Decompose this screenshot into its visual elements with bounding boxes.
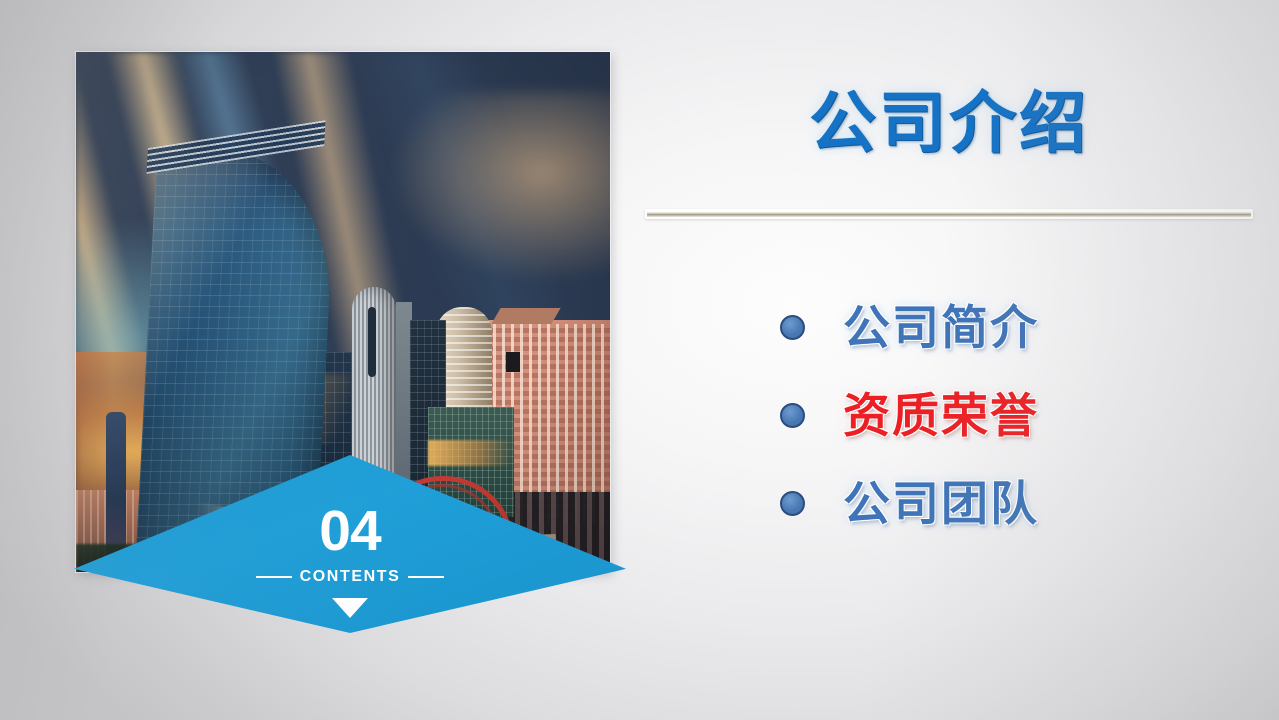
cityscape-photo	[76, 52, 610, 572]
bullet-dot-icon	[780, 315, 805, 340]
bullet-dot-icon	[780, 403, 805, 428]
presentation-slide: 04 CONTENTS 公司介绍 公司简介 资质荣誉 公司团队	[0, 0, 1279, 720]
badge-rule-left	[256, 576, 292, 578]
bullet-dot-icon	[780, 491, 805, 516]
agenda-item-label: 资质荣誉	[843, 392, 1039, 439]
title-divider-bar	[647, 212, 1251, 217]
photo-vignette	[76, 52, 610, 572]
badge-rule-right	[408, 576, 444, 578]
agenda-item-company-profile[interactable]: 公司简介	[780, 283, 1250, 371]
agenda-item-label: 公司团队	[843, 480, 1039, 527]
page-title: 公司介绍	[645, 86, 1253, 161]
agenda-item-company-team[interactable]: 公司团队	[780, 459, 1250, 547]
title-divider	[645, 209, 1253, 219]
triangle-down-icon	[332, 598, 368, 618]
agenda-item-label: 公司简介	[843, 304, 1039, 351]
agenda-item-qualifications-honors[interactable]: 资质荣誉	[780, 371, 1250, 459]
agenda-list: 公司简介 资质荣誉 公司团队	[780, 283, 1250, 547]
